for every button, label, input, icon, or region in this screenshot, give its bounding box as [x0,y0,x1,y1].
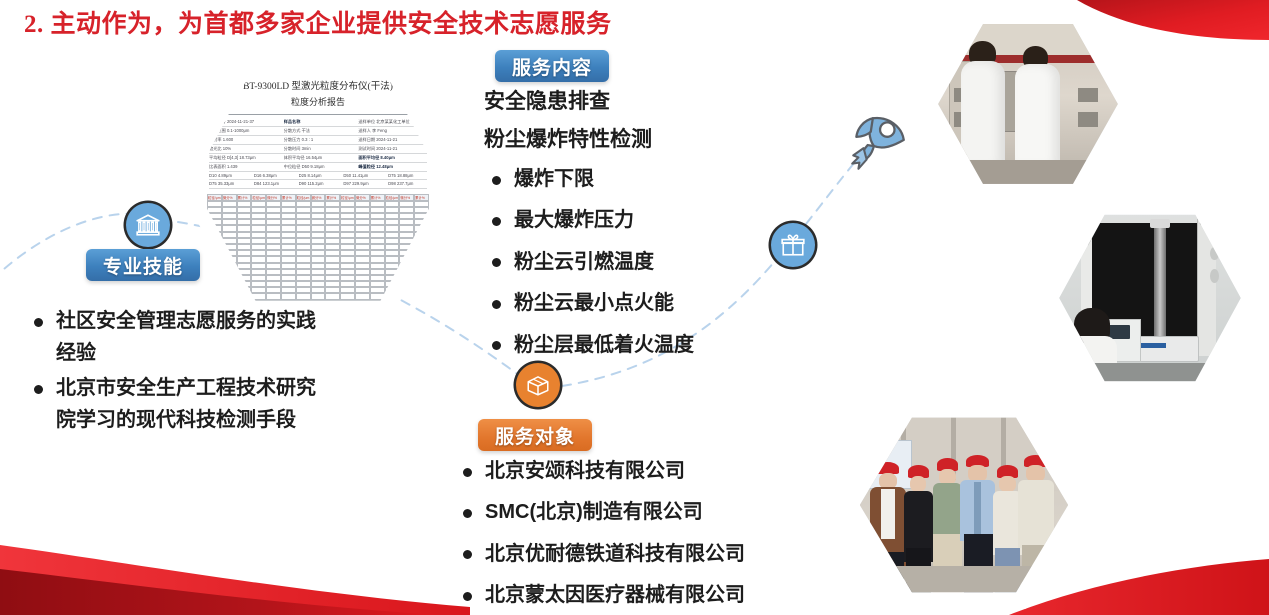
report-stat-row: D10 4.89μmD16 6.38μmD25 8.14μmD50 11.41μ… [209,172,427,181]
report-table-cell [414,300,429,305]
list-item: 粉尘云引燃温度 [484,247,814,277]
list-item: 最大爆炸压力 [484,205,814,235]
service-content-heading: 粉尘爆炸特性检测 [484,124,814,157]
list-item: 粉尘云最小点火能 [484,288,814,318]
report-meta-row: 报告编号 2024-11-21-37样品名称送样单位 北京某某化工单位 [209,118,427,127]
report-meta-row: 折射率 1.600分散压力 0.3 : 1送样日期 2024-11-21 [209,136,427,145]
report-table-cell [414,269,429,275]
report-table-cell [207,287,222,293]
report-table-cell [399,293,414,299]
report-meta-row: 遮光比 10%分散时间 3min测试时间 2024-11-21 [209,145,427,154]
service-target-list: 北京安颂科技有限公司 SMC(北京)制造有限公司 北京优耐德铁道科技有限公司 北… [455,456,815,611]
report-meta-row: 平均粒径 D[4,3] 18.73μm体积平均径 16.54μm面积平均径 8.… [209,154,427,163]
skills-list: 社区安全管理志愿服务的实践经验 北京市安全生产工程技术研究院学习的现代科技检测手… [26,306,326,436]
page-title: 2. 主动作为，为首都多家企业提供安全技术志愿服务 [24,4,612,40]
report-table-cell [207,269,222,275]
report-meta-row: 测量范围 0.1-1000μm分散方式 干法送样人 李 Feng [209,127,427,136]
report-table-cell [207,293,222,299]
report-table-cell [414,263,429,269]
skills-badge[interactable]: 专业技能 [86,249,200,281]
rocket-icon[interactable] [845,112,911,174]
report-table-cell [414,293,429,299]
report-table-cell [207,275,222,281]
report-table-cell [207,300,222,305]
report-table-cell [222,300,237,305]
slide-canvas: 2. 主动作为，为首都多家企业提供安全技术志愿服务 [0,0,1269,615]
dust-explosion-equipment-photo-hexagon [1042,196,1258,400]
report-table-cell [222,293,237,299]
list-item: 粉尘层最低着火温度 [484,330,814,360]
report-meta-row: 比表面积 1.439中位粒径 D50 9.18μm峰值粒径 12.48μm [209,163,427,172]
service-content-block: 安全隐患排查 粉尘爆炸特性检测 爆炸下限 最大爆炸压力 粉尘云引燃温度 粉尘云最… [484,86,814,371]
skills-block: 社区安全管理志愿服务的实践经验 北京市安全生产工程技术研究院学习的现代科技检测手… [26,306,326,440]
list-item: 北京优耐德铁道科技有限公司 [455,539,815,569]
report-table-cell [414,287,429,293]
report-meta-block: 报告编号 2024-11-21-37样品名称送样单位 北京某某化工单位 测量范围… [209,118,427,190]
lab-technicians-photo-hexagon [921,6,1135,202]
service-content-list: 爆炸下限 最大爆炸压力 粉尘云引燃温度 粉尘云最小点火能 粉尘层最低着火温度 [484,164,814,360]
report-stat-row: D75 35.33μmD84 123.1μmD90 115.2μmD97 229… [209,180,427,189]
list-item: 北京市安全生产工程技术研究院学习的现代科技检测手段 [26,373,326,436]
service-target-block: 北京安颂科技有限公司 SMC(北京)制造有限公司 北京优耐德铁道科技有限公司 北… [455,456,815,615]
bank-building-icon [135,212,161,238]
service-content-badge[interactable]: 服务内容 [495,50,609,82]
bank-building-icon-node[interactable] [126,203,170,247]
report-table-cell [207,281,222,287]
report-table-cell [414,281,429,287]
list-item: 社区安全管理志愿服务的实践经验 [26,306,326,369]
report-table-cell [399,300,414,305]
open-box-icon [525,372,551,398]
team-group-photo-hexagon [840,398,1088,612]
service-target-badge[interactable]: 服务对象 [478,419,592,451]
report-divider [211,114,425,115]
list-item: 北京安颂科技有限公司 [455,456,815,486]
service-content-heading: 安全隐患排查 [484,86,814,119]
report-table-cell [207,263,222,269]
list-item: 北京蒙太因医疗器械有限公司 [455,580,815,610]
report-document-hexagon: BT-9300LD 型激光粒度分布仪(干法) 粒度分析报告 报告编号 2024-… [176,46,460,318]
list-item: SMC(北京)制造有限公司 [455,497,815,527]
report-table-cell [414,275,429,281]
list-item: 爆炸下限 [484,164,814,194]
